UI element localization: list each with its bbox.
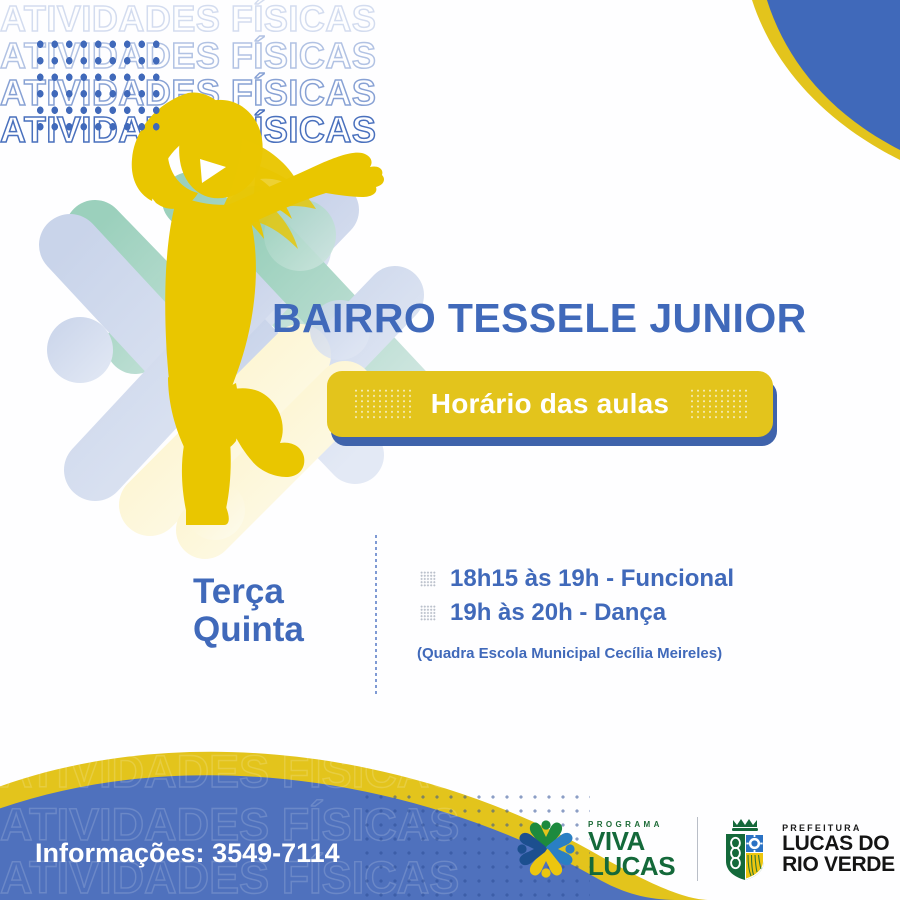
- prefeitura-logo: PREFEITURA LUCAS DO RIO VERDE: [720, 817, 895, 881]
- info-phone: 3549-7114: [212, 838, 340, 868]
- page-title: BAIRRO TESSELE JUNIOR: [272, 295, 807, 342]
- info-label: Informações:: [35, 838, 205, 868]
- time-text: 19h às 20h - Dança: [450, 599, 666, 627]
- prefeitura-line-2: RIO VERDE: [782, 854, 895, 875]
- prefeitura-shield-crest-icon: [720, 817, 770, 881]
- lucas-word: LUCAS: [588, 854, 675, 879]
- viva-word: VIVA: [588, 829, 675, 854]
- list-item: 19h às 20h - Dança: [420, 599, 734, 627]
- footer-logos: PROGRAMA VIVA LUCAS: [515, 812, 895, 886]
- list-item: 18h15 às 19h - Funcional: [420, 565, 734, 593]
- schedule-button[interactable]: Horário das aulas: [327, 371, 773, 437]
- dot-grid-icon-left: [353, 388, 411, 420]
- schedule-button-wrapper: Horário das aulas: [327, 371, 777, 443]
- schedule-button-label: Horário das aulas: [431, 388, 669, 420]
- prefeitura-line-1: LUCAS DO: [782, 833, 895, 854]
- logo-divider: [697, 817, 698, 881]
- poster-canvas: ATIVIDADES FÍSICAS ATIVIDADES FÍSICAS AT…: [0, 0, 900, 900]
- times-list: 18h15 às 19h - Funcional 19h às 20h - Da…: [420, 565, 734, 633]
- venue-note: (Quadra Escola Municipal Cecília Meirele…: [417, 645, 722, 662]
- dot-grid-icon: [33, 36, 163, 136]
- dot-grid-bullet-icon: [420, 605, 436, 621]
- day-line-1: Terça: [193, 573, 304, 611]
- dot-grid-icon-right: [689, 388, 747, 420]
- viva-lucas-text: PROGRAMA VIVA LUCAS: [588, 820, 675, 879]
- prefeitura-text: PREFEITURA LUCAS DO RIO VERDE: [782, 823, 895, 875]
- day-line-2: Quinta: [193, 611, 304, 649]
- viva-lucas-people-icon: [515, 819, 577, 879]
- info-phone-text: Informações: 3549-7114: [35, 838, 340, 869]
- days-label: Terça Quinta: [193, 573, 304, 649]
- time-text: 18h15 às 19h - Funcional: [450, 565, 734, 593]
- viva-lucas-logo: PROGRAMA VIVA LUCAS: [515, 819, 675, 879]
- dot-grid-bullet-icon: [420, 571, 436, 587]
- dotted-divider: [375, 535, 377, 697]
